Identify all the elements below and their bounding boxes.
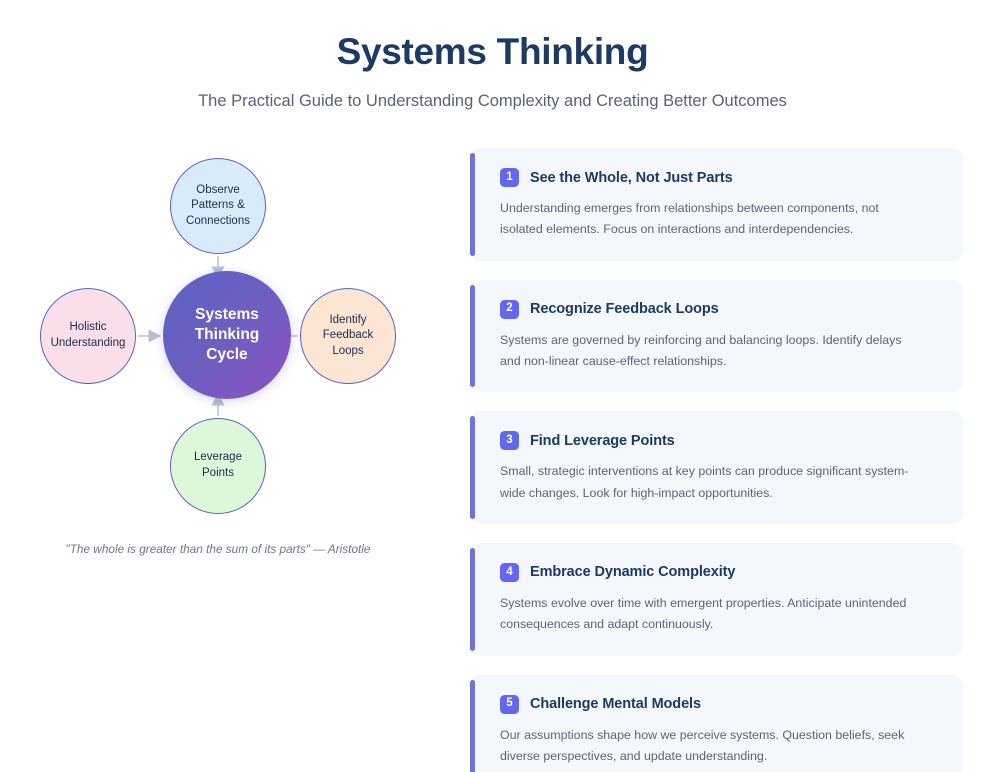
cycle-node-leverage-label: LeveragePoints <box>188 450 248 481</box>
page-subtitle: The Practical Guide to Understanding Com… <box>0 92 985 111</box>
principle-description-5: Our assumptions shape how we perceive sy… <box>500 725 920 768</box>
principle-description-1: Understanding emerges from relationships… <box>500 198 920 241</box>
principle-badge-1: 1 <box>500 168 519 187</box>
principle-title-3: Find Leverage Points <box>530 433 675 449</box>
principle-title-5: Challenge Mental Models <box>530 696 701 712</box>
principle-card-3[interactable]: 3 Find Leverage Points Small, strategic … <box>470 411 963 524</box>
systems-thinking-cycle-diagram: ObservePatterns &Connections HolisticUnd… <box>8 148 428 538</box>
principle-title-1: See the Whole, Not Just Parts <box>530 170 733 186</box>
diagram-quote: "The whole is greater than the sum of it… <box>8 542 428 556</box>
principle-title-2: Recognize Feedback Loops <box>530 301 719 317</box>
principle-card-4[interactable]: 4 Embrace Dynamic Complexity Systems evo… <box>470 543 963 656</box>
principle-description-3: Small, strategic interventions at key po… <box>500 461 920 504</box>
principle-card-1[interactable]: 1 See the Whole, Not Just Parts Understa… <box>470 148 963 261</box>
principle-card-2[interactable]: 2 Recognize Feedback Loops Systems are g… <box>470 280 963 393</box>
principle-card-4-head: 4 Embrace Dynamic Complexity <box>500 563 937 582</box>
cycle-node-feedback-label: IdentifyFeedbackLoops <box>317 313 380 360</box>
cycle-center-label: SystemsThinkingCycle <box>195 305 260 364</box>
principle-card-5-head: 5 Challenge Mental Models <box>500 695 937 714</box>
cycle-node-observe-label: ObservePatterns &Connections <box>180 183 256 230</box>
principle-card-3-head: 3 Find Leverage Points <box>500 431 937 450</box>
principles-list: 1 See the Whole, Not Just Parts Understa… <box>470 148 985 772</box>
principle-badge-5: 5 <box>500 695 519 714</box>
principle-description-2: Systems are governed by reinforcing and … <box>500 330 920 373</box>
principle-badge-4: 4 <box>500 563 519 582</box>
cycle-node-observe[interactable]: ObservePatterns &Connections <box>170 158 266 254</box>
principle-card-1-head: 1 See the Whole, Not Just Parts <box>500 168 937 187</box>
principle-description-4: Systems evolve over time with emergent p… <box>500 593 920 636</box>
diagram-pane: ObservePatterns &Connections HolisticUnd… <box>0 148 470 578</box>
cycle-center-node[interactable]: SystemsThinkingCycle <box>163 271 291 399</box>
content-body: ObservePatterns &Connections HolisticUnd… <box>0 148 985 772</box>
principle-badge-3: 3 <box>500 431 519 450</box>
cycle-node-leverage[interactable]: LeveragePoints <box>170 418 266 514</box>
cycle-node-feedback[interactable]: IdentifyFeedbackLoops <box>300 288 396 384</box>
principle-card-2-head: 2 Recognize Feedback Loops <box>500 300 937 319</box>
page-title: Systems Thinking <box>0 30 985 74</box>
cycle-node-holistic-label: HolisticUnderstanding <box>45 320 132 351</box>
principle-badge-2: 2 <box>500 300 519 319</box>
principle-title-4: Embrace Dynamic Complexity <box>530 564 735 580</box>
page-header: Systems Thinking The Practical Guide to … <box>0 0 985 111</box>
cycle-node-holistic[interactable]: HolisticUnderstanding <box>40 288 136 384</box>
infographic-page: Systems Thinking The Practical Guide to … <box>0 0 985 772</box>
principle-card-5[interactable]: 5 Challenge Mental Models Our assumption… <box>470 675 963 772</box>
